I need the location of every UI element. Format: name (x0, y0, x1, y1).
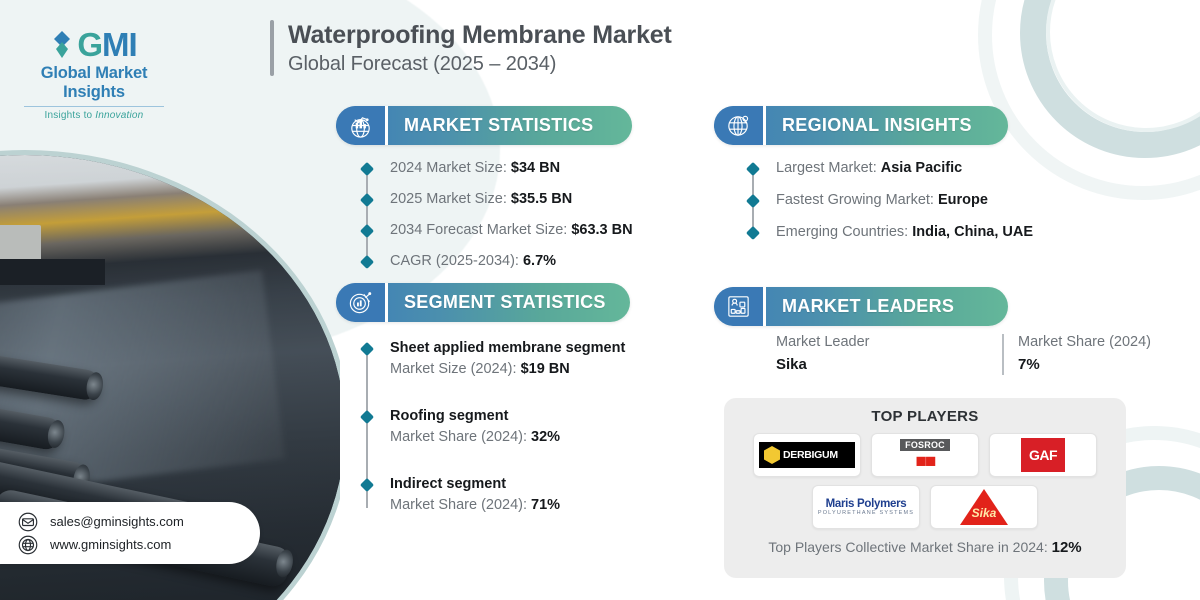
regional-insights-list: Largest Market: Asia Pacific Fastest Gro… (748, 158, 1033, 243)
bullet-diamond-icon (360, 478, 374, 492)
list-item: CAGR (2025-2034): 6.7% (362, 251, 633, 272)
list-item: Indirect segment Market Share (2024): 71… (362, 474, 625, 516)
list-item: Fastest Growing Market: Europe (748, 190, 1033, 211)
gmi-logo-tagline: Insights to Innovation (14, 110, 174, 121)
gmi-logo-mark: GMI (77, 28, 136, 61)
gaf-logo: GAF (1021, 438, 1065, 472)
bullet-diamond-icon (746, 226, 760, 240)
list-spine (366, 166, 368, 264)
section-header-regional-insights: REGIONAL INSIGHTS (714, 106, 1008, 145)
sika-logo: Sika (960, 489, 1008, 525)
player-logo-sika[interactable]: Sika (930, 485, 1038, 529)
title-accent-bar (270, 20, 274, 76)
contact-email-row[interactable]: sales@gminsights.com (18, 512, 260, 532)
infographic-root: GMI Global Market Insights Insights to I… (0, 0, 1200, 600)
list-item-label: Market Size (2024): (390, 361, 521, 377)
gmi-logo-name: Global Market Insights (14, 64, 174, 102)
derbigum-hex-icon (764, 446, 780, 464)
gmi-diamond-icon (51, 30, 73, 60)
list-item-label: 2025 Market Size: (390, 191, 511, 207)
bullet-diamond-icon (360, 162, 374, 176)
list-item-value: $35.5 BN (511, 191, 572, 207)
list-item: 2024 Market Size: $34 BN (362, 158, 633, 179)
list-item-label: CAGR (2025-2034): (390, 253, 523, 269)
list-item-value: Asia Pacific (881, 160, 962, 176)
fosroc-logo: FOSROC ■■ (900, 439, 950, 471)
list-item: 2034 Forecast Market Size: $63.3 BN (362, 220, 633, 241)
market-leader-label: Market Leader (776, 332, 1002, 354)
top-players-title: TOP PLAYERS (871, 408, 978, 425)
top-players-footer-value: 12% (1052, 539, 1082, 556)
list-item-label: Market Share (2024): (390, 497, 531, 513)
section-title-regional-insights: REGIONAL INSIGHTS (766, 106, 990, 145)
section-header-market-leaders: MARKET LEADERS (714, 287, 1008, 326)
player-logo-derbigum[interactable]: DERBIGUM (753, 433, 861, 477)
section-header-market-statistics: MARKET STATISTICS (336, 106, 632, 145)
top-players-card: TOP PLAYERS DERBIGUM FOSROC ■■ GAF (724, 398, 1126, 578)
bullet-diamond-icon (360, 224, 374, 238)
list-item-value: India, China, UAE (912, 224, 1033, 240)
bullet-diamond-icon (360, 255, 374, 269)
list-item-value: 71% (531, 497, 560, 513)
list-item-value: 32% (531, 429, 560, 445)
globe-chart-icon (336, 106, 388, 145)
globe-icon (18, 535, 38, 555)
list-item: Emerging Countries: India, China, UAE (748, 222, 1033, 243)
bullet-diamond-icon (360, 193, 374, 207)
list-item-value: 6.7% (523, 253, 556, 269)
list-item-value: $19 BN (521, 361, 570, 377)
list-item: Sheet applied membrane segment Market Si… (362, 338, 625, 380)
market-statistics-list: 2024 Market Size: $34 BN 2025 Market Siz… (362, 158, 633, 272)
market-leader-value: Sika (776, 354, 1002, 375)
contact-card: sales@gminsights.com www.gminsights.com (0, 502, 260, 564)
contact-website: www.gminsights.com (50, 537, 171, 552)
segment-pie-icon (336, 283, 388, 322)
fosroc-symbol-icon: ■■ (916, 452, 935, 471)
envelope-icon (18, 512, 38, 532)
bullet-diamond-icon (360, 410, 374, 424)
section-header-segment-statistics: SEGMENT STATISTICS (336, 283, 630, 322)
market-leader-block: Market Leader Sika Market Share (2024) 7… (776, 332, 1151, 375)
list-item-label: Fastest Growing Market: (776, 192, 938, 208)
market-share-label: Market Share (2024) (1018, 332, 1151, 354)
market-share-value: 7% (1018, 354, 1151, 375)
derbigum-logo: DERBIGUM (759, 442, 855, 468)
list-item-value: Europe (938, 192, 988, 208)
sika-wordmark: Sika (969, 506, 999, 520)
list-item-label: Market Share (2024): (390, 429, 531, 445)
derbigum-wordmark: DERBIGUM (783, 449, 838, 461)
top-players-footer-label: Top Players Collective Market Share in 2… (768, 539, 1051, 555)
list-item-label: 2034 Forecast Market Size: (390, 222, 571, 238)
podium-icon (714, 287, 766, 326)
maris-wordmark: Maris Polymers (818, 498, 914, 510)
section-title-segment-statistics: SEGMENT STATISTICS (388, 283, 624, 322)
player-logo-fosroc[interactable]: FOSROC ■■ (871, 433, 979, 477)
list-item: Largest Market: Asia Pacific (748, 158, 1033, 179)
list-item: 2025 Market Size: $35.5 BN (362, 189, 633, 210)
section-title-market-leaders: MARKET LEADERS (766, 287, 972, 326)
page-title-block: Waterproofing Membrane Market Global For… (270, 20, 672, 76)
list-item-value: $34 BN (511, 160, 560, 176)
maris-subtitle: POLYURETHANE SYSTEMS (818, 510, 914, 516)
logo-divider (24, 106, 164, 107)
maris-polymers-logo: Maris Polymers POLYURETHANE SYSTEMS (818, 498, 914, 516)
player-logo-maris-polymers[interactable]: Maris Polymers POLYURETHANE SYSTEMS (812, 485, 920, 529)
list-item-value: $63.3 BN (571, 222, 632, 238)
top-players-logo-row-1: DERBIGUM FOSROC ■■ GAF (753, 433, 1097, 477)
section-title-market-statistics: MARKET STATISTICS (388, 106, 611, 145)
list-item-heading: Indirect segment (390, 474, 625, 495)
fosroc-wordmark: FOSROC (900, 439, 950, 451)
page-title: Waterproofing Membrane Market (288, 20, 672, 51)
bullet-diamond-icon (746, 194, 760, 208)
list-item: Roofing segment Market Share (2024): 32% (362, 406, 625, 448)
bullet-diamond-icon (746, 162, 760, 176)
list-item-heading: Roofing segment (390, 406, 625, 427)
leader-divider (1002, 334, 1004, 375)
list-item-heading: Sheet applied membrane segment (390, 338, 625, 359)
contact-website-row[interactable]: www.gminsights.com (18, 535, 260, 555)
segment-statistics-list: Sheet applied membrane segment Market Si… (362, 338, 625, 516)
globe-pin-icon (714, 106, 766, 145)
player-logo-gaf[interactable]: GAF (989, 433, 1097, 477)
list-item-label: Emerging Countries: (776, 224, 912, 240)
page-subtitle: Global Forecast (2025 – 2034) (288, 53, 672, 76)
top-players-footer: Top Players Collective Market Share in 2… (768, 539, 1081, 556)
bullet-diamond-icon (360, 342, 374, 356)
gmi-logo: GMI Global Market Insights Insights to I… (14, 28, 174, 121)
list-item-label: Largest Market: (776, 160, 881, 176)
contact-email: sales@gminsights.com (50, 514, 184, 529)
top-players-logo-row-2: Maris Polymers POLYURETHANE SYSTEMS Sika (812, 485, 1038, 529)
list-item-label: 2024 Market Size: (390, 160, 511, 176)
